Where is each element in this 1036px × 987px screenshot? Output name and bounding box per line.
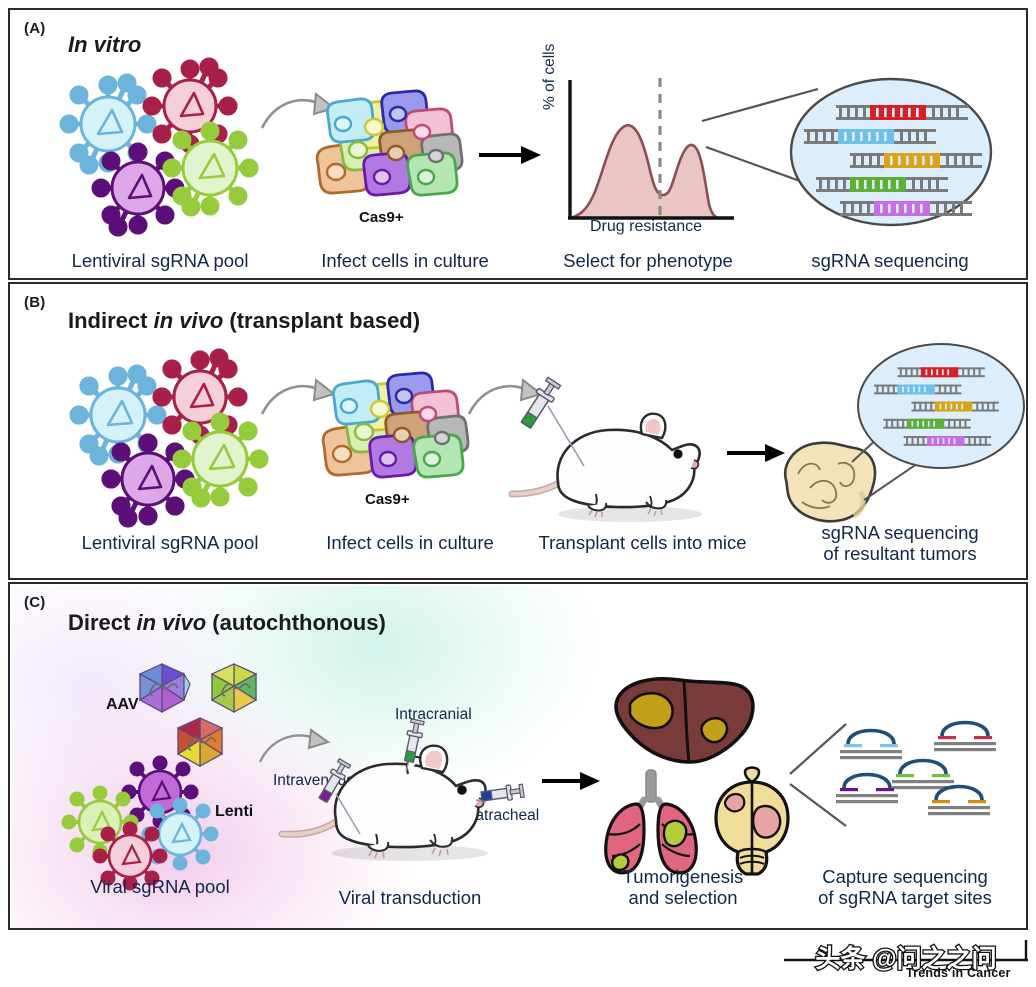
panel-c-letter: (C): [24, 594, 45, 611]
chart-x-axis-label: Drug resistance: [590, 218, 702, 236]
capture-read: [934, 723, 996, 752]
caption-c-2-line1: Viral transduction: [339, 887, 482, 908]
lentivirus-pool-icon-a: [50, 56, 270, 236]
caption-a-2: Infect cells in culture: [290, 250, 520, 271]
panel-c-title-prefix: Direct: [68, 610, 136, 635]
capture-read: [836, 775, 898, 804]
cas9-label-b: Cas9+: [365, 491, 410, 508]
cell-cluster-icon-b: [316, 384, 476, 499]
mouse-transplant-icon: [510, 388, 740, 528]
panel-b-title-italic: in vivo: [154, 308, 224, 333]
panel-b-letter: (B): [24, 294, 45, 311]
cell-cluster-icon-a: [310, 102, 470, 217]
mouse-direct-invivo-icon: [280, 718, 540, 868]
chart-y-axis-label: % of cells: [541, 44, 559, 110]
capture-read: [928, 787, 990, 816]
caption-b-2: Infect cells in culture: [295, 532, 525, 553]
caption-a-1: Lentiviral sgRNA pool: [40, 250, 280, 271]
sgrna-sequencing-bubble-b: [856, 342, 1026, 470]
panel-c-title: Direct in vivo (autochthonous): [68, 610, 386, 636]
panel-b-title: Indirect in vivo (transplant based): [68, 308, 420, 334]
panel-c-title-italic: in vivo: [136, 610, 206, 635]
lenti-label: Lenti: [215, 803, 253, 821]
liver-icon: [616, 679, 753, 762]
caption-b-4: sgRNA sequencing of resultant tumors: [780, 522, 1020, 565]
lenti-particles-icon: [58, 752, 238, 882]
sgrna-sequencing-bubble-a: [788, 76, 994, 228]
panel-b-title-suffix: (transplant based): [223, 308, 420, 333]
aav-label: AAV: [106, 696, 139, 714]
panel-c-title-suffix: (autochthonous): [206, 610, 386, 635]
caption-c-1: Viral sgRNA pool: [40, 876, 280, 897]
organs-tumorigenesis-icon: [590, 672, 790, 882]
caption-c-4: Capture sequencing of sgRNA target sites: [790, 866, 1020, 909]
capture-read: [892, 761, 954, 790]
lungs-icon: [606, 770, 697, 873]
arrow-right-icon-a: [477, 142, 543, 168]
panel-a-letter: (A): [24, 20, 45, 37]
caption-a-4: sgRNA sequencing: [780, 250, 1000, 271]
caption-b-3: Transplant cells into mice: [515, 532, 770, 553]
figure-root: (A) In vitro: [0, 0, 1036, 987]
caption-b-1: Lentiviral sgRNA pool: [50, 532, 290, 553]
caption-c-2: Viral transduction directly in vivo: [295, 866, 525, 930]
capture-sequencing-diagram: [836, 712, 1026, 852]
cas9-label-a: Cas9+: [359, 209, 404, 226]
caption-a-3: Select for phenotype: [538, 250, 758, 271]
lentivirus-pool-icon-b: [60, 342, 280, 532]
panel-a: (A) In vitro: [8, 8, 1028, 280]
panel-b: (B) Indirect in vivo (transplant based): [8, 282, 1028, 580]
capture-read: [840, 731, 902, 760]
brain-icon: [716, 768, 788, 875]
panel-c: (C) Direct in vivo (autochthonous): [8, 582, 1028, 930]
panel-b-title-prefix: Indirect: [68, 308, 154, 333]
journal-credit: Trends in Cancer: [906, 966, 1011, 980]
panel-a-title: In vitro: [68, 32, 141, 58]
caption-c-3: Tumorigenesis and selection: [578, 866, 788, 909]
